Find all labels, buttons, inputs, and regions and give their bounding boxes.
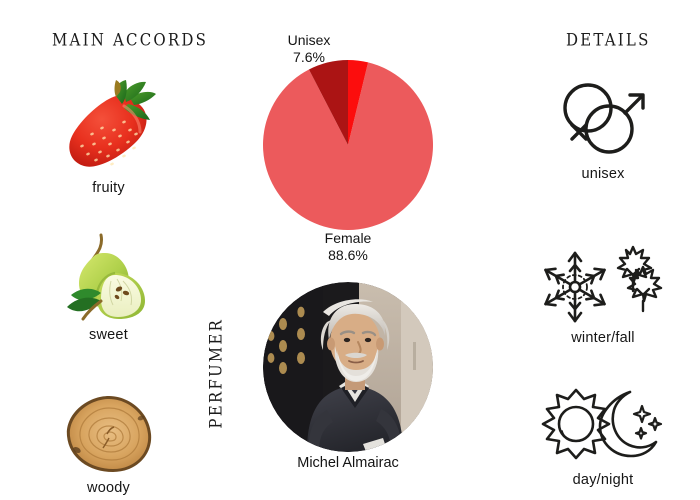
accord-label: fruity <box>46 180 171 196</box>
main-accords-heading: MAIN ACCORDS <box>52 30 208 50</box>
detail-item-winter-fall[interactable]: winter/fall <box>528 236 678 346</box>
male-female-symbol-icon <box>528 72 678 164</box>
accord-label: sweet <box>46 327 171 343</box>
pie-label-unisex-name: Unisex <box>239 32 379 49</box>
pear-icon <box>46 225 171 323</box>
pie-label-unisex-value: 7.6% <box>239 49 379 66</box>
details-heading: DETAILS <box>566 30 651 50</box>
accord-item-fruity[interactable]: fruity <box>46 78 171 196</box>
accord-item-woody[interactable]: woody <box>46 378 171 496</box>
strawberry-icon <box>46 78 171 176</box>
detail-label: day/night <box>528 472 678 488</box>
perfumer-name: Michel Almairac <box>258 455 438 471</box>
detail-item-day-night[interactable]: day/night <box>528 378 678 488</box>
pie-label-female-value: 88.6% <box>278 247 418 264</box>
pie-label-unisex: Unisex 7.6% <box>239 32 379 66</box>
perfumer-portrait-photo <box>263 282 433 452</box>
gender-pie-chart <box>263 60 433 230</box>
accord-label: woody <box>46 480 171 496</box>
page-root: MAIN ACCORDS <box>0 0 700 500</box>
detail-item-unisex[interactable]: unisex <box>528 72 678 182</box>
perfumer-heading: PERFUMER <box>206 318 226 429</box>
detail-label: unisex <box>528 166 678 182</box>
pie-label-female-name: Female <box>278 230 418 247</box>
snowflake-leaves-icon <box>528 236 678 328</box>
wood-slice-icon <box>46 378 171 476</box>
pie-label-female: Female 88.6% <box>278 230 418 264</box>
detail-label: winter/fall <box>528 330 678 346</box>
sun-moon-icon <box>528 378 678 470</box>
accord-item-sweet[interactable]: sweet <box>46 225 171 343</box>
